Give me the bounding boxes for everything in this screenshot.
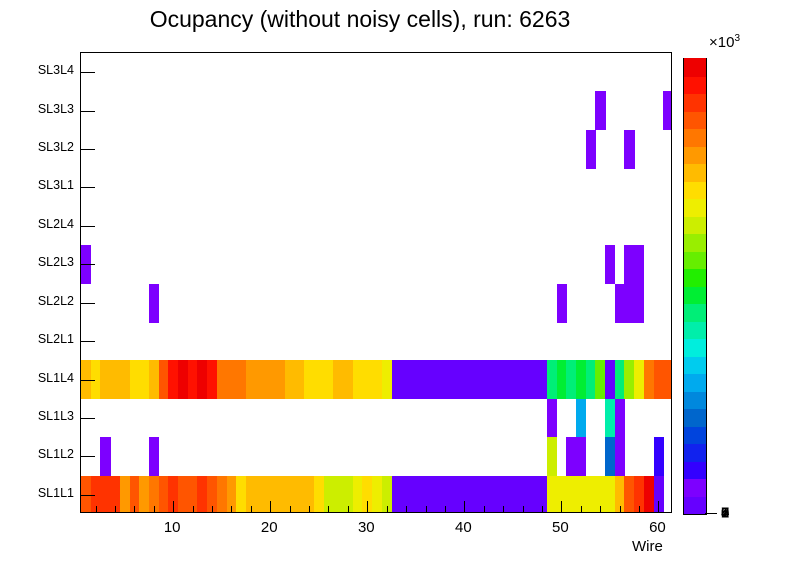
x-axis-minor-tick <box>251 506 252 512</box>
y-axis-tick <box>81 149 95 150</box>
x-axis-minor-tick <box>231 506 232 512</box>
color-scale-band <box>684 426 706 444</box>
y-axis-tick <box>81 495 95 496</box>
color-scale-band <box>684 216 706 234</box>
color-scale-band <box>684 251 706 269</box>
y-axis-tick <box>81 264 95 265</box>
y-axis-tick <box>81 341 95 342</box>
z-axis-ticks: 0123456789 <box>705 0 796 572</box>
x-axis-tick-label: 40 <box>455 519 472 536</box>
x-axis-minor-tick <box>290 506 291 512</box>
color-scale-band <box>684 356 706 374</box>
y-axis-tick-label: SL1L2 <box>38 447 74 461</box>
x-axis-minor-tick <box>309 506 310 512</box>
x-axis-minor-tick <box>484 506 485 512</box>
z-exponent-power: 3 <box>734 33 740 44</box>
y-axis-tick-label: SL1L1 <box>38 486 74 500</box>
color-scale-band <box>684 496 706 514</box>
color-scale-band <box>684 268 706 286</box>
y-axis-tick-label: SL2L2 <box>38 294 74 308</box>
color-scale-band <box>684 443 706 461</box>
y-axis-tick-label: SL1L3 <box>38 409 74 423</box>
heatmap-cell <box>654 437 664 476</box>
heatmap-cell <box>605 245 615 284</box>
heatmap-cell <box>557 284 567 323</box>
heatmap-cell <box>615 399 625 438</box>
color-scale-band <box>684 76 706 94</box>
heatmap-cell <box>615 437 625 476</box>
z-axis-tick <box>705 513 717 514</box>
x-axis-minor-tick <box>426 506 427 512</box>
heatmap-cell <box>547 399 557 438</box>
x-axis-minor-tick <box>212 506 213 512</box>
color-scale-band <box>684 478 706 496</box>
x-axis-minor-tick <box>639 506 640 512</box>
x-axis-tick-label: 10 <box>164 519 181 536</box>
y-axis-tick-label: SL3L3 <box>38 102 74 116</box>
z-axis-exponent-label: ×103 <box>709 33 740 51</box>
y-axis-tick <box>81 418 95 419</box>
heatmap-cell <box>634 284 644 323</box>
y-axis-tick <box>81 187 95 188</box>
y-axis-tick <box>81 72 95 73</box>
y-axis-tick-label: SL3L2 <box>38 140 74 154</box>
heatmap-cell <box>576 437 586 476</box>
heatmap-cell <box>624 130 634 169</box>
x-axis-tick-label: 30 <box>358 519 375 536</box>
y-axis-tick-label: SL1L4 <box>38 371 74 385</box>
color-scale-band <box>684 321 706 339</box>
color-scale-bar <box>683 58 707 515</box>
x-axis-major-tick <box>464 501 465 512</box>
z-exponent-base: ×10 <box>709 34 734 51</box>
y-axis-tick-label: SL2L1 <box>38 332 74 346</box>
x-axis-major-tick <box>173 501 174 512</box>
root-canvas: Ocupancy (without noisy cells), run: 626… <box>0 0 796 572</box>
x-axis-major-tick <box>270 501 271 512</box>
x-axis-minor-tick <box>542 506 543 512</box>
x-axis-major-tick <box>561 501 562 512</box>
x-axis-title: Wire <box>632 538 663 555</box>
plot-frame <box>80 52 672 513</box>
heatmap-cell <box>149 284 159 323</box>
heatmap-cell <box>634 245 644 284</box>
color-scale-band <box>684 303 706 321</box>
color-scale-band <box>684 58 706 76</box>
y-axis-tick <box>81 226 95 227</box>
heatmap-cell <box>595 91 605 130</box>
color-scale-band <box>684 408 706 426</box>
heatmap-cell <box>663 91 671 130</box>
x-axis-tick-label: 60 <box>649 519 666 536</box>
x-axis-tick-label: 50 <box>552 519 569 536</box>
page-title: Ocupancy (without noisy cells), run: 626… <box>0 6 720 33</box>
x-axis-minor-tick <box>154 506 155 512</box>
x-axis-minor-tick <box>581 506 582 512</box>
heatmap-cell <box>586 130 596 169</box>
y-axis-tick <box>81 303 95 304</box>
x-axis-tick-labels: 102030405060 <box>0 515 796 539</box>
heatmap-cell <box>663 360 671 399</box>
y-axis-tick <box>81 456 95 457</box>
x-axis-tick-label: 20 <box>261 519 278 536</box>
color-scale-band <box>684 286 706 304</box>
color-scale-band <box>684 391 706 409</box>
color-scale-band <box>684 373 706 391</box>
heatmap-cell <box>576 399 586 438</box>
y-axis-labels: SL3L4SL3L3SL3L2SL3L1SL2L4SL2L3SL2L2SL2L1… <box>0 0 80 572</box>
x-axis-minor-tick <box>600 506 601 512</box>
x-axis-minor-tick <box>134 506 135 512</box>
heatmap-cell <box>547 437 557 476</box>
x-axis-minor-tick <box>523 506 524 512</box>
y-axis-tick-label: SL3L1 <box>38 178 74 192</box>
color-scale-band <box>684 461 706 479</box>
color-scale-band <box>684 111 706 129</box>
color-scale-band <box>684 163 706 181</box>
x-axis-minor-tick <box>445 506 446 512</box>
heatmap-cell <box>149 437 159 476</box>
x-axis-minor-tick <box>620 506 621 512</box>
y-axis-tick-label: SL3L4 <box>38 63 74 77</box>
color-scale-band <box>684 338 706 356</box>
color-scale-band <box>684 181 706 199</box>
x-axis-minor-tick <box>328 506 329 512</box>
color-scale-band <box>684 93 706 111</box>
z-axis-tick-label: 9 <box>721 504 729 521</box>
y-axis-tick-label: SL2L3 <box>38 255 74 269</box>
x-axis-minor-tick <box>96 506 97 512</box>
x-axis-minor-tick <box>115 506 116 512</box>
color-scale-band <box>684 233 706 251</box>
x-axis-minor-tick <box>406 506 407 512</box>
x-axis-minor-tick <box>387 506 388 512</box>
y-axis-tick-label: SL2L4 <box>38 217 74 231</box>
x-axis-major-tick <box>658 501 659 512</box>
heatmap-cells <box>81 53 671 512</box>
x-axis-minor-tick <box>348 506 349 512</box>
x-axis-minor-tick <box>503 506 504 512</box>
heatmap-cell <box>100 437 110 476</box>
y-axis-tick <box>81 111 95 112</box>
y-axis-tick <box>81 380 95 381</box>
x-axis-major-tick <box>367 501 368 512</box>
color-scale-band <box>684 146 706 164</box>
color-scale-band <box>684 128 706 146</box>
color-scale-band <box>684 198 706 216</box>
x-axis-minor-tick <box>193 506 194 512</box>
